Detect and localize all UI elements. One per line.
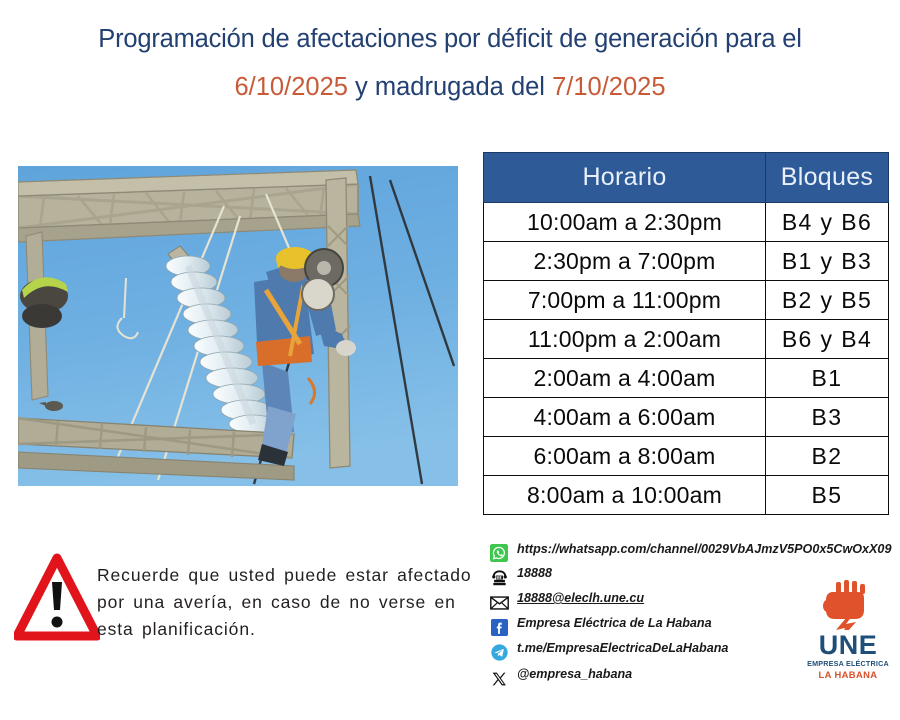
table-row: 6:00am a 8:00am B2 — [484, 437, 889, 476]
une-city: LA HABANA — [806, 669, 890, 681]
table-row: 2:00am a 4:00am B1 — [484, 359, 889, 398]
contact-list: https://whatsapp.com/channel/0029VbAJmzV… — [487, 541, 797, 691]
contact-row-telephone[interactable]: 18888 — [487, 566, 797, 588]
contact-text-x: @empresa_habana — [517, 667, 632, 683]
title-connector: y madrugada del — [348, 73, 552, 101]
cell-horario: 6:00am a 8:00am — [484, 437, 766, 476]
cell-bloques: B2 y B5 — [766, 281, 889, 320]
une-logo: UNE EMPRESA ELÉCTRICA LA HABANA — [806, 578, 890, 690]
contact-text-email: 18888@eleclh.une.cu — [517, 591, 644, 607]
cell-horario: 2:30pm a 7:00pm — [484, 242, 766, 281]
cell-horario: 8:00am a 10:00am — [484, 476, 766, 515]
column-header-horario: Horario — [484, 153, 766, 203]
table-row: 11:00pm a 2:00am B6 y B4 — [484, 320, 889, 359]
cell-horario: 11:00pm a 2:00am — [484, 320, 766, 359]
cell-horario: 2:00am a 4:00am — [484, 359, 766, 398]
table-row: 8:00am a 10:00am B5 — [484, 476, 889, 515]
contact-text-telegram: t.me/EmpresaElectricaDeLaHabana — [517, 641, 728, 657]
contact-row-telegram[interactable]: t.me/EmpresaElectricaDeLaHabana — [487, 641, 797, 663]
telegram-icon — [487, 642, 511, 663]
lineman-photo — [18, 166, 458, 486]
table-header-row: Horario Bloques — [484, 153, 889, 203]
table-row: 4:00am a 6:00am B3 — [484, 398, 889, 437]
cell-bloques: B3 — [766, 398, 889, 437]
schedule-table: Horario Bloques 10:00am a 2:30pm B4 y B6… — [483, 152, 889, 515]
warning-triangle-icon — [14, 552, 100, 644]
date-secondary: 7/10/2025 — [552, 73, 665, 101]
title-line-1: Programación de afectaciones por déficit… — [0, 22, 900, 56]
une-subtitle: EMPRESA ELÉCTRICA — [806, 659, 890, 668]
cell-horario: 4:00am a 6:00am — [484, 398, 766, 437]
telephone-icon — [487, 567, 511, 588]
contact-row-email[interactable]: 18888@eleclh.une.cu — [487, 591, 797, 613]
une-wordmark: UNE — [806, 632, 890, 659]
cell-horario: 7:00pm a 11:00pm — [484, 281, 766, 320]
cell-bloques: B1 y B3 — [766, 242, 889, 281]
title-line-2: 6/10/2025 y madrugada del 7/10/2025 — [0, 70, 900, 104]
table-row: 10:00am a 2:30pm B4 y B6 — [484, 203, 889, 242]
whatsapp-icon — [487, 542, 511, 563]
contact-text-facebook: Empresa Eléctrica de La Habana — [517, 616, 712, 632]
x-twitter-icon — [487, 668, 511, 689]
warning-notice-text: Recuerde que usted puede estar afectado … — [97, 562, 482, 643]
contact-text-telephone: 18888 — [517, 566, 552, 582]
cell-bloques: B2 — [766, 437, 889, 476]
contact-text-whatsapp: https://whatsapp.com/channel/0029VbAJmzV… — [517, 541, 891, 557]
date-primary: 6/10/2025 — [234, 73, 347, 101]
poster-canvas: Programación de afectaciones por déficit… — [0, 0, 900, 720]
envelope-icon — [487, 592, 511, 613]
contact-row-x[interactable]: @empresa_habana — [487, 667, 797, 689]
contact-row-facebook[interactable]: Empresa Eléctrica de La Habana — [487, 616, 797, 638]
fist-lightning-icon — [806, 578, 890, 630]
cell-bloques: B6 y B4 — [766, 320, 889, 359]
cell-bloques: B4 y B6 — [766, 203, 889, 242]
table-row: 7:00pm a 11:00pm B2 y B5 — [484, 281, 889, 320]
page-title: Programación de afectaciones por déficit… — [0, 22, 900, 104]
cell-bloques: B1 — [766, 359, 889, 398]
lineman-photo-illustration — [18, 166, 458, 486]
facebook-icon — [487, 617, 511, 638]
table-row: 2:30pm a 7:00pm B1 y B3 — [484, 242, 889, 281]
contact-row-whatsapp[interactable]: https://whatsapp.com/channel/0029VbAJmzV… — [487, 541, 797, 563]
column-header-bloques: Bloques — [766, 153, 889, 203]
cell-bloques: B5 — [766, 476, 889, 515]
cell-horario: 10:00am a 2:30pm — [484, 203, 766, 242]
